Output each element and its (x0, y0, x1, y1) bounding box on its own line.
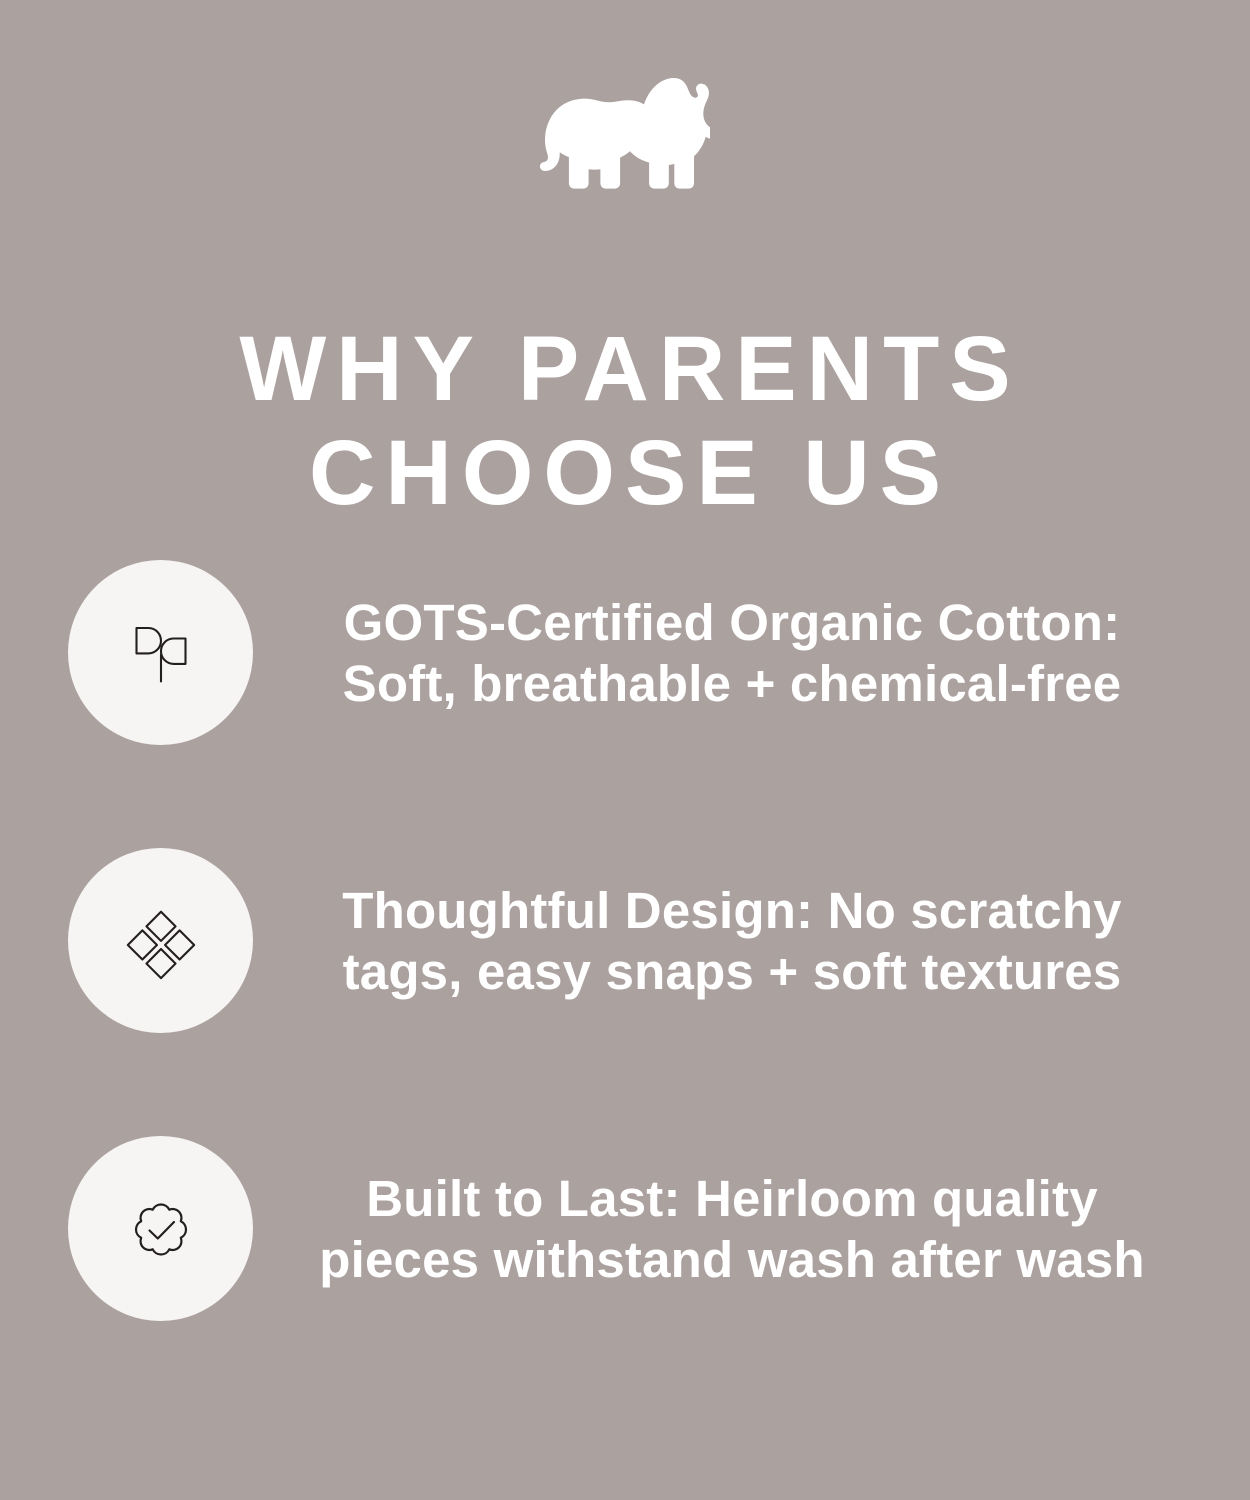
feature-item-built-to-last: Built to Last: Heirloom quality pieces w… (0, 1136, 1250, 1321)
feature-item-thoughtful-design: Thoughtful Design: No scratchy tags, eas… (0, 848, 1250, 1033)
badge-check-icon (115, 1183, 207, 1275)
feature-text: Thoughtful Design: No scratchy tags, eas… (282, 880, 1182, 1002)
feature-text-line-2: Soft, breathable + chemical-free (282, 653, 1182, 714)
why-parents-choose-us-poster: WHY PARENTS CHOOSE US GOTS-Certified Org… (0, 0, 1250, 1500)
brand-logo (0, 78, 1250, 196)
headline-line-1: WHY PARENTS (0, 317, 1250, 421)
page-title: WHY PARENTS CHOOSE US (0, 317, 1250, 525)
elephant-icon (540, 78, 710, 196)
headline-line-2: CHOOSE US (0, 421, 1250, 525)
feature-icon-circle (68, 848, 253, 1033)
feature-text-line-2: pieces withstand wash after wash (282, 1229, 1182, 1290)
feature-list: GOTS-Certified Organic Cotton: Soft, bre… (0, 560, 1250, 1321)
feature-icon-circle (68, 560, 253, 745)
feature-text-line-2: tags, easy snaps + soft textures (282, 941, 1182, 1002)
feature-text-line-1: Built to Last: Heirloom quality (282, 1168, 1182, 1229)
feature-icon-circle (68, 1136, 253, 1321)
sprout-icon (119, 611, 203, 695)
feature-text: GOTS-Certified Organic Cotton: Soft, bre… (282, 592, 1182, 714)
feature-item-organic-cotton: GOTS-Certified Organic Cotton: Soft, bre… (0, 560, 1250, 745)
feature-text-line-1: GOTS-Certified Organic Cotton: (282, 592, 1182, 653)
feature-text: Built to Last: Heirloom quality pieces w… (282, 1168, 1182, 1290)
feature-text-line-1: Thoughtful Design: No scratchy (282, 880, 1182, 941)
four-diamonds-icon (119, 899, 203, 983)
